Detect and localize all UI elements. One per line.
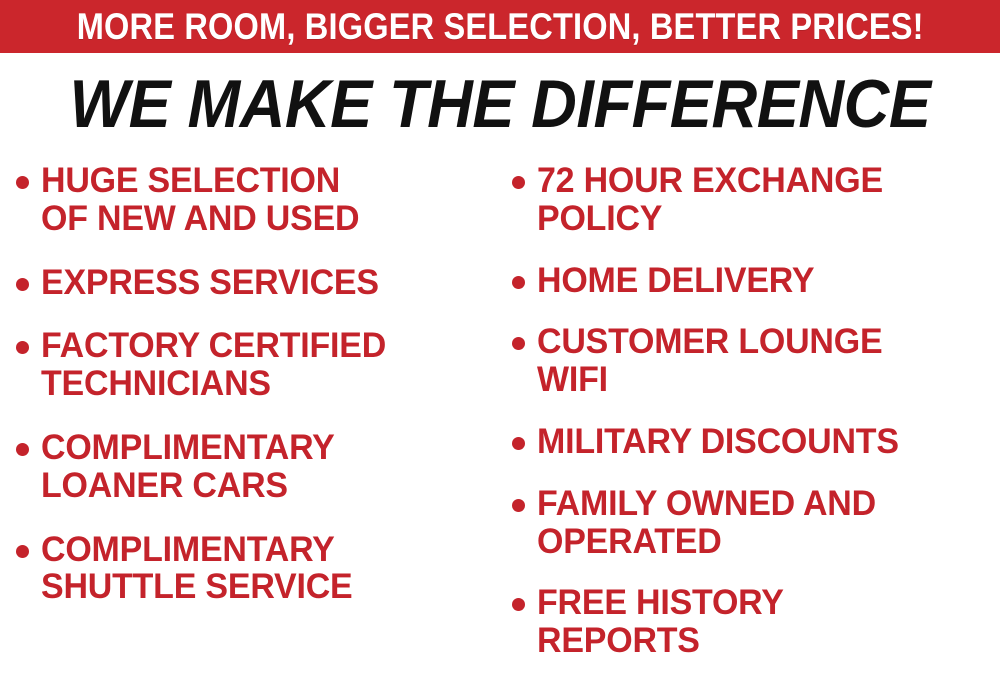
list-item: MILITARY DISCOUNTS [512,423,1000,461]
list-item-label: HUGE SELECTION OF NEW AND USED [41,162,359,238]
bullet-dot-icon [16,545,29,558]
bullet-dot-icon [512,176,525,189]
top-banner: MORE ROOM, BIGGER SELECTION, BETTER PRIC… [0,0,1000,53]
list-item: COMPLIMENTARY SHUTTLE SERVICE [16,531,506,607]
list-item-label: HOME DELIVERY [537,262,814,300]
list-item: FACTORY CERTIFIED TECHNICIANS [16,327,506,403]
benefits-column-left: HUGE SELECTION OF NEW AND USED EXPRESS S… [16,162,506,632]
bullet-dot-icon [16,341,29,354]
list-item-label: CUSTOMER LOUNGE WIFI [537,323,882,399]
list-item: CUSTOMER LOUNGE WIFI [512,323,1000,399]
list-item: COMPLIMENTARY LOANER CARS [16,429,506,505]
list-item: HUGE SELECTION OF NEW AND USED [16,162,506,238]
bullet-dot-icon [16,278,29,291]
benefits-column-right: 72 HOUR EXCHANGE POLICY HOME DELIVERY CU… [512,162,1000,684]
list-item-label: COMPLIMENTARY LOANER CARS [41,429,335,505]
list-item: HOME DELIVERY [512,262,1000,300]
list-item-label: 72 HOUR EXCHANGE POLICY [537,162,883,238]
promotional-poster: MORE ROOM, BIGGER SELECTION, BETTER PRIC… [0,0,1000,694]
bullet-dot-icon [512,337,525,350]
list-item: 72 HOUR EXCHANGE POLICY [512,162,1000,238]
list-item: FREE HISTORY REPORTS [512,584,1000,660]
list-item: FAMILY OWNED AND OPERATED [512,485,1000,561]
bullet-dot-icon [512,598,525,611]
bullet-dot-icon [512,276,525,289]
list-item-label: FACTORY CERTIFIED TECHNICIANS [41,327,386,403]
list-item-label: MILITARY DISCOUNTS [537,423,899,461]
bullet-dot-icon [512,499,525,512]
list-item: EXPRESS SERVICES [16,264,506,302]
list-item-label: FREE HISTORY REPORTS [537,584,784,660]
page-title: WE MAKE THE DIFFERENCE [35,70,965,138]
bullet-dot-icon [16,176,29,189]
list-item-label: EXPRESS SERVICES [41,264,379,302]
list-item-label: COMPLIMENTARY SHUTTLE SERVICE [41,531,353,607]
bullet-dot-icon [16,443,29,456]
banner-headline-text: MORE ROOM, BIGGER SELECTION, BETTER PRIC… [77,8,924,45]
bullet-dot-icon [512,437,525,450]
list-item-label: FAMILY OWNED AND OPERATED [537,485,876,561]
